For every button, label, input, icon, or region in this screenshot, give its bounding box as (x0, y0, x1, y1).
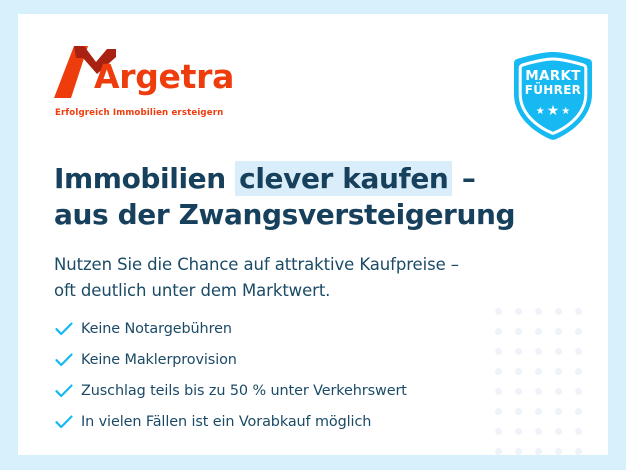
logo-wordmark: Argetra (94, 60, 234, 93)
dot (535, 428, 542, 435)
dot (515, 448, 522, 455)
dot (555, 328, 562, 335)
dot (575, 308, 582, 315)
dot (535, 408, 542, 415)
logo-tagline: Erfolgreich Immobilien ersteigern (55, 108, 223, 118)
dot (535, 448, 542, 455)
subheadline-line-1: Nutzen Sie die Chance auf attraktive Kau… (54, 255, 459, 274)
headline-highlight: clever kaufen (235, 161, 452, 196)
subheadline-line-2: oft deutlich unter dem Marktwert. (54, 281, 330, 300)
dot (575, 388, 582, 395)
dot (515, 328, 522, 335)
list-item: Keine Notargebühren (55, 313, 515, 344)
promo-card: Argetra Erfolgreich Immobilien ersteiger… (18, 14, 608, 455)
brand-logo[interactable]: Argetra Erfolgreich Immobilien ersteiger… (54, 46, 354, 104)
dot (575, 428, 582, 435)
check-icon (55, 384, 81, 398)
list-item-label: Zuschlag teils bis zu 50 % unter Verkehr… (81, 383, 407, 399)
dot (535, 388, 542, 395)
dot (555, 348, 562, 355)
list-item-label: In vielen Fällen ist ein Vorabkauf mögli… (81, 414, 371, 430)
dot (515, 348, 522, 355)
dot (515, 428, 522, 435)
check-icon (55, 353, 81, 367)
benefits-checklist: Keine Notargebühren Keine Maklerprovisio… (55, 313, 515, 437)
list-item-label: Keine Notargebühren (81, 321, 232, 337)
dot (555, 408, 562, 415)
dot (555, 388, 562, 395)
dot (555, 428, 562, 435)
subheadline: Nutzen Sie die Chance auf attraktive Kau… (54, 252, 554, 305)
dot (495, 448, 502, 455)
shield-icon (507, 50, 599, 142)
dot (575, 408, 582, 415)
list-item: In vielen Fällen ist ein Vorabkauf mögli… (55, 406, 515, 437)
dot (575, 448, 582, 455)
dot (515, 368, 522, 375)
dot (555, 448, 562, 455)
dot (515, 388, 522, 395)
headline-line-2: aus der Zwangsversteigerung (54, 198, 515, 231)
logo-row: Argetra (54, 46, 354, 104)
headline-line-1: Immobilien clever kaufen – (54, 161, 475, 196)
page-title: Immobilien clever kaufen – aus der Zwang… (54, 161, 554, 233)
dot (575, 348, 582, 355)
headline-suffix: – (452, 162, 475, 195)
dot (575, 328, 582, 335)
dot (535, 308, 542, 315)
market-leader-badge: MARKT FÜHRER ★ ★ ★ (507, 50, 599, 142)
check-icon (55, 415, 81, 429)
list-item: Zuschlag teils bis zu 50 % unter Verkehr… (55, 375, 515, 406)
dot (555, 308, 562, 315)
dot (535, 368, 542, 375)
dot (535, 348, 542, 355)
dot (515, 408, 522, 415)
dot (515, 308, 522, 315)
check-icon (55, 322, 81, 336)
list-item-label: Keine Maklerprovision (81, 352, 237, 368)
dot (535, 328, 542, 335)
headline-prefix: Immobilien (54, 162, 235, 195)
dot (575, 368, 582, 375)
list-item: Keine Maklerprovision (55, 344, 515, 375)
dot (555, 368, 562, 375)
